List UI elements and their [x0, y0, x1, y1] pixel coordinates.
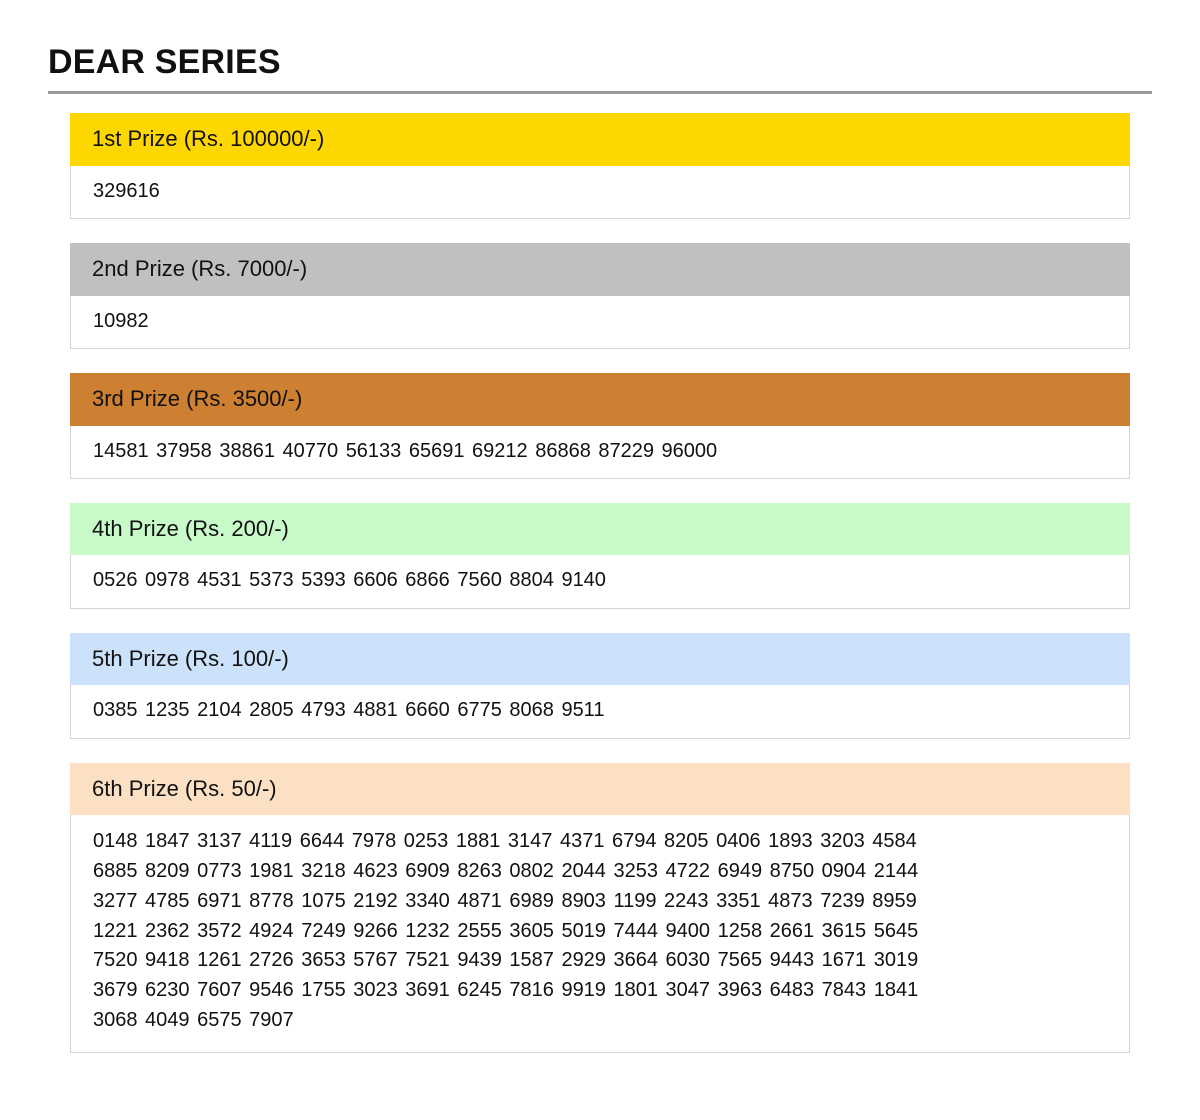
- prize-body-3rd: 14581 37958 38861 40770 56133 65691 6921…: [70, 426, 1130, 480]
- prize-block-6th: 6th Prize (Rs. 50/-) 0148 1847 3137 4119…: [70, 763, 1130, 1053]
- prize-body-5th: 0385 1235 2104 2805 4793 4881 6660 6775 …: [70, 685, 1130, 739]
- prize-header-3rd: 3rd Prize (Rs. 3500/-): [70, 373, 1130, 425]
- prize-body-2nd: 10982: [70, 296, 1130, 350]
- prize-body-4th: 0526 0978 4531 5373 5393 6606 6866 7560 …: [70, 555, 1130, 609]
- prize-numbers-2nd: 10982: [93, 310, 149, 332]
- prize-header-4th: 4th Prize (Rs. 200/-): [70, 503, 1130, 555]
- prize-header-2nd: 2nd Prize (Rs. 7000/-): [70, 243, 1130, 295]
- prize-body-1st: 329616: [70, 166, 1130, 220]
- prize-block-1st: 1st Prize (Rs. 100000/-) 329616: [70, 113, 1130, 219]
- prize-list: 1st Prize (Rs. 100000/-) 329616 2nd Priz…: [0, 94, 1200, 1052]
- prize-block-3rd: 3rd Prize (Rs. 3500/-) 14581 37958 38861…: [70, 373, 1130, 479]
- lottery-result-page: DEAR SERIES 1st Prize (Rs. 100000/-) 329…: [0, 0, 1200, 1053]
- prize-block-5th: 5th Prize (Rs. 100/-) 0385 1235 2104 280…: [70, 633, 1130, 739]
- prize-numbers-5th: 0385 1235 2104 2805 4793 4881 6660 6775 …: [93, 699, 604, 721]
- prize-body-6th: 0148 1847 3137 4119 6644 7978 0253 1881 …: [70, 815, 1130, 1053]
- prize-numbers-6th: 0148 1847 3137 4119 6644 7978 0253 1881 …: [93, 830, 918, 1031]
- prize-numbers-4th: 0526 0978 4531 5373 5393 6606 6866 7560 …: [93, 569, 606, 591]
- prize-block-4th: 4th Prize (Rs. 200/-) 0526 0978 4531 537…: [70, 503, 1130, 609]
- prize-numbers-3rd: 14581 37958 38861 40770 56133 65691 6921…: [93, 440, 717, 462]
- prize-header-5th: 5th Prize (Rs. 100/-): [70, 633, 1130, 685]
- page-title: DEAR SERIES: [0, 0, 1200, 91]
- prize-header-6th: 6th Prize (Rs. 50/-): [70, 763, 1130, 815]
- prize-numbers-1st: 329616: [93, 180, 160, 202]
- prize-block-2nd: 2nd Prize (Rs. 7000/-) 10982: [70, 243, 1130, 349]
- prize-header-1st: 1st Prize (Rs. 100000/-): [70, 113, 1130, 165]
